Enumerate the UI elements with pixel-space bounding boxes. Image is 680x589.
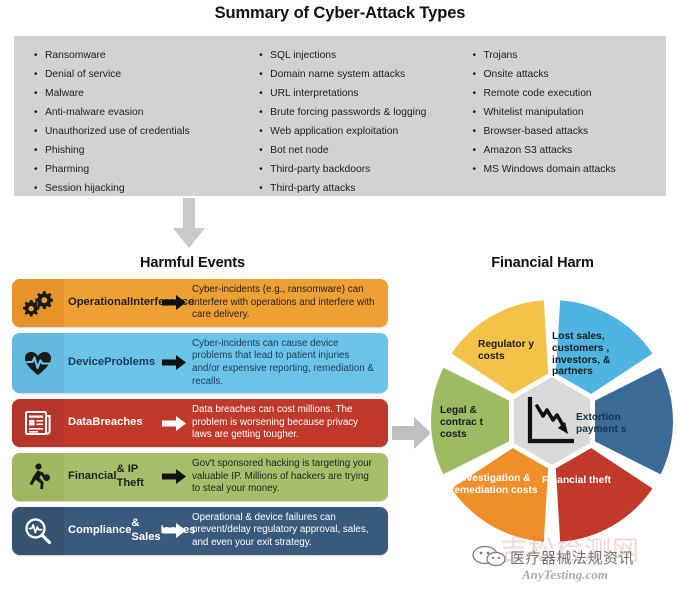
list-item: Malware <box>34 84 247 103</box>
list-item: Session hijacking <box>34 179 247 198</box>
harmful-event-row[interactable]: Financial& IP Theft Gov't sponsored hack… <box>12 453 388 501</box>
harmful-event-label: DeviceProblems <box>64 333 156 393</box>
harmful-events-list: OperationalInterference Cyber-incidents … <box>12 279 388 561</box>
harmful-events-header: Harmful Events <box>0 255 385 271</box>
harmful-event-description: Operational & device failures can preven… <box>192 507 388 555</box>
arrow-right-icon <box>156 453 192 501</box>
document-icon <box>12 399 64 447</box>
magnifier-pulse-icon <box>12 507 64 555</box>
arrow-right-icon <box>156 399 192 447</box>
attack-types-column-1: Ransomware Denial of service Malware Ant… <box>22 46 247 198</box>
list-item: Onsite attacks <box>472 65 658 84</box>
harmful-event-label: DataBreaches <box>64 399 156 447</box>
list-item: Amazon S3 attacks <box>472 141 658 160</box>
wechat-icon <box>472 545 506 567</box>
list-item: Browser-based attacks <box>472 122 658 141</box>
harmful-event-row[interactable]: Compliance& SalesIssues Operational & de… <box>12 507 388 555</box>
watermark-english-text: AnyTesting.com <box>522 567 608 583</box>
list-item: Whitelist manipulation <box>472 103 658 122</box>
arrow-right-icon <box>162 523 186 538</box>
list-item: Domain name system attacks <box>259 65 460 84</box>
harmful-event-row[interactable]: DeviceProblems Cyber-incidents can cause… <box>12 333 388 393</box>
financial-harm-header: Financial Harm <box>410 255 675 271</box>
heart-pulse-icon <box>12 333 64 393</box>
list-item: URL interpretations <box>259 84 460 103</box>
harmful-event-label: OperationalInterference <box>64 279 156 327</box>
harmful-event-description: Gov't sponsored hacking is targeting you… <box>192 453 388 501</box>
gears-icon <box>12 279 64 327</box>
list-item: SQL injections <box>259 46 460 65</box>
harmful-event-label: Compliance& SalesIssues <box>64 507 156 555</box>
attack-types-column-2: SQL injections Domain name system attack… <box>247 46 460 198</box>
down-arrow-icon <box>171 198 207 250</box>
harmful-event-description: Cyber-incidents (e.g., ransomware) can i… <box>192 279 388 327</box>
arrow-right-icon <box>156 507 192 555</box>
list-item: Bot net node <box>259 141 460 160</box>
harmful-event-row[interactable]: OperationalInterference Cyber-incidents … <box>12 279 388 327</box>
list-item: Phishing <box>34 141 247 160</box>
arrow-right-icon <box>162 355 186 370</box>
arrow-right-icon <box>156 279 192 327</box>
list-item: Pharming <box>34 160 247 179</box>
attack-types-panel: Ransomware Denial of service Malware Ant… <box>14 36 666 196</box>
harmful-event-label: Financial& IP Theft <box>64 453 156 501</box>
list-item: Trojans <box>472 46 658 65</box>
list-item: Third-party backdoors <box>259 160 460 179</box>
harmful-event-description: Data breaches can cost millions. The pro… <box>192 399 388 447</box>
arrow-right-icon <box>162 416 186 431</box>
list-item: Third-party attacks <box>259 179 460 198</box>
arrow-right-icon <box>162 295 186 310</box>
arrow-right-icon <box>156 333 192 393</box>
list-item: Brute forcing passwords & logging <box>259 103 460 122</box>
financial-harm-chart <box>426 295 678 547</box>
list-item: Remote code execution <box>472 84 658 103</box>
page-title: Summary of Cyber-Attack Types <box>0 4 680 23</box>
list-item: Ransomware <box>34 46 247 65</box>
financial-harm-wheel: Lost sales, customers , investors, & par… <box>426 295 678 547</box>
watermark-chinese-text: 医疗器械法规资讯 <box>510 547 634 568</box>
harmful-event-description: Cyber-incidents can cause device problem… <box>192 333 388 393</box>
list-item: Unauthorized use of credentials <box>34 122 247 141</box>
running-thief-icon <box>12 453 64 501</box>
list-item: Denial of service <box>34 65 247 84</box>
arrow-right-icon <box>162 469 186 484</box>
list-item: MS Windows domain attacks <box>472 160 658 179</box>
list-item: Anti-malware evasion <box>34 103 247 122</box>
harmful-event-row[interactable]: DataBreaches Data breaches can cost mill… <box>12 399 388 447</box>
list-item: Web application exploitation <box>259 122 460 141</box>
attack-types-column-3: Trojans Onsite attacks Remote code execu… <box>460 46 658 179</box>
